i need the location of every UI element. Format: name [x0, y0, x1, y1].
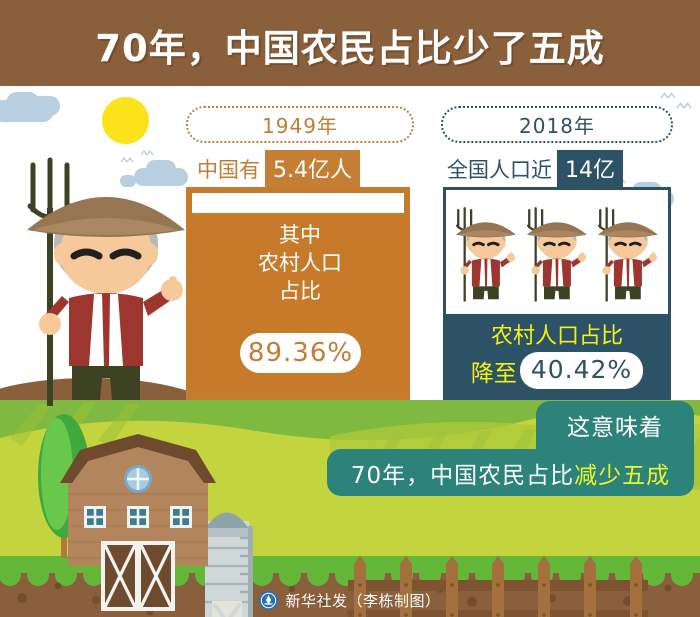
infographic-root: 70年，中国农民占比少了五成	[0, 0, 700, 617]
left-box-body: 其中 农村人口 占比	[188, 221, 412, 305]
conclusion-lead-banner: 这意味着	[536, 401, 694, 449]
right-subtitle-prefix: 全国人口近	[447, 154, 552, 184]
footer-credit-text: 新华社发（李栋制图）	[285, 590, 440, 611]
left-subtitle: 中国有 5.4亿人	[197, 150, 360, 188]
year-pill-2018: 2018年	[441, 106, 673, 143]
farmer-icon	[448, 193, 520, 313]
left-subtitle-highlight: 5.4亿人	[265, 150, 360, 188]
conclusion-statement-banner: 70年，中国农民占比 减少五成	[327, 449, 694, 496]
farmer-icon	[6, 148, 196, 408]
farmer-icon	[590, 193, 662, 313]
year-pill-1949: 1949年	[186, 106, 414, 143]
conclusion-statement-highlight: 减少五成	[574, 456, 670, 490]
left-body-line-1: 其中	[188, 221, 412, 249]
left-subtitle-prefix: 中国有	[197, 154, 260, 184]
left-data-box: 其中 农村人口 占比 89.36%	[186, 187, 410, 400]
conclusion-statement-prefix: 70年，中国农民占比	[351, 456, 574, 490]
page-title: 70年，中国农民占比少了五成	[0, 18, 700, 72]
year-label-right: 2018年	[519, 110, 595, 139]
conclusion-lead-text: 这意味着	[567, 408, 663, 442]
right-percent-value: 40.42%	[520, 352, 643, 389]
left-percent-value: 89.36%	[240, 333, 361, 373]
xinhua-logo-icon	[259, 591, 278, 610]
right-subtitle-highlight: 14亿	[557, 150, 623, 188]
right-value-row: 降至 40.42%	[446, 352, 668, 389]
left-box-header-strip	[191, 192, 405, 214]
farmer-icon	[519, 193, 591, 313]
right-subtitle: 全国人口近 14亿	[447, 150, 623, 188]
footer-credit: 新华社发（李栋制图）	[0, 583, 700, 617]
left-body-line-3: 占比	[188, 277, 412, 305]
right-box-caption-area: 农村人口占比 降至 40.42%	[446, 314, 668, 397]
right-caption: 农村人口占比	[446, 318, 668, 350]
right-change-label: 降至	[471, 354, 517, 388]
right-data-box: 农村人口占比 降至 40.42%	[443, 187, 671, 400]
right-box-illustration-area	[446, 190, 668, 314]
left-body-line-2: 农村人口	[188, 249, 412, 277]
header-bar: 70年，中国农民占比少了五成	[0, 0, 700, 86]
year-label-left: 1949年	[262, 110, 338, 139]
